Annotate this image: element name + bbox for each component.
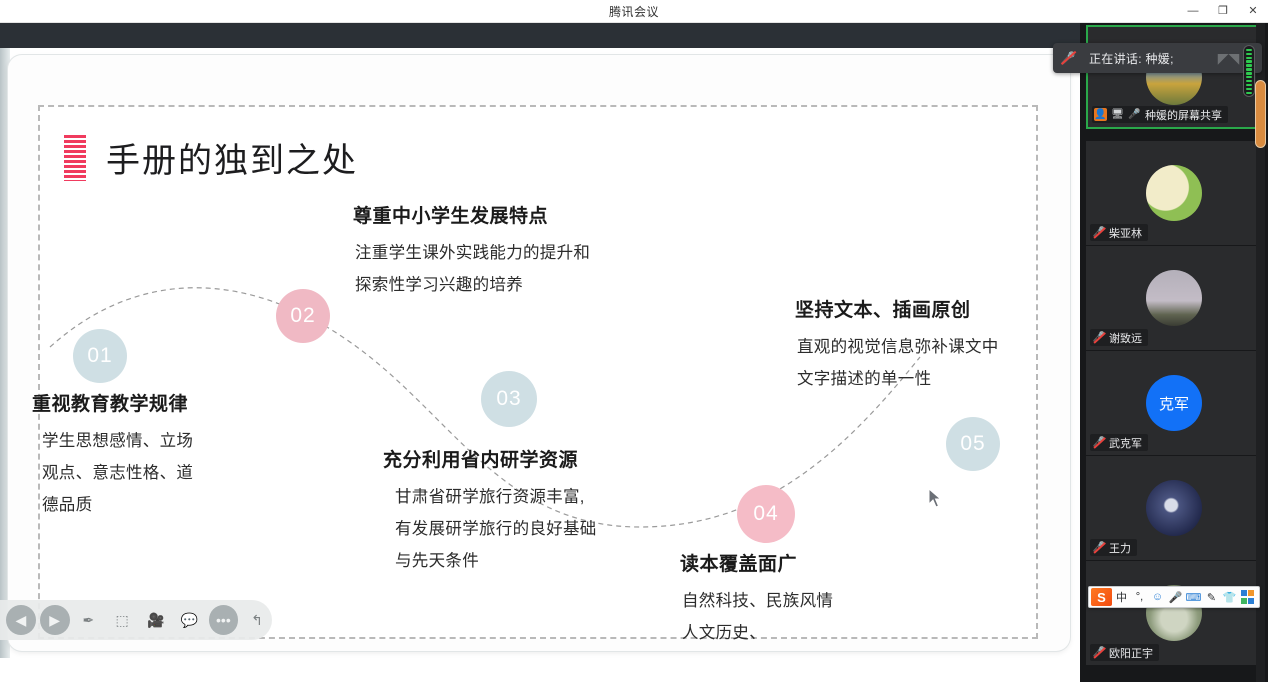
soft-keyboard-icon[interactable]: ⌨ (1185, 588, 1202, 606)
slide-item-02: 尊重中小学生发展特点 注重学生课外实践能力的提升和 探索性学习兴趣的培养 (353, 201, 590, 301)
bubble-02: 02 (276, 289, 330, 343)
avatar: 克军 (1146, 375, 1202, 431)
text-line: 注重学生课外实践能力的提升和 (355, 237, 590, 269)
close-button[interactable]: ✕ (1238, 0, 1268, 23)
presentation-toolbar[interactable]: ◀ ▶ ✒ ⬚ 🎥 💬 ••• ↰ (0, 600, 272, 640)
ime-toolbar[interactable]: S 中 °, ☺ 🎤 ⌨ ✎ 👕 (1088, 586, 1260, 608)
bubble-03: 03 (481, 371, 537, 427)
bubble-05-label: 05 (960, 432, 985, 456)
bubble-04-label: 04 (753, 502, 778, 526)
slide-item-05: 坚持文本、插画原创 直观的视觉信息弥补课文中 文字描述的单一性 (795, 295, 999, 395)
participant-name: 王力 (1109, 540, 1131, 556)
microphone-muted-icon: 🎤 (1053, 43, 1083, 73)
chinese-mode-icon[interactable]: 中 (1113, 588, 1130, 606)
text-line: 学生思想感情、立场 (42, 425, 193, 457)
avatar (1146, 165, 1202, 221)
microphone-muted-icon: 🎤 (1093, 647, 1105, 659)
text-line: 人文历史、 (682, 617, 833, 649)
text-line: 文字描述的单一性 (797, 363, 999, 395)
window-title: 腾讯会议 (609, 3, 659, 20)
participant-name: 种媛的屏幕共享 (1145, 107, 1222, 123)
participant-strip[interactable]: 👤 🖥 🎤 种媛的屏幕共享 🎤 柴亚林 🎤 谢致远 克军 🎤 武克军 (1080, 23, 1268, 682)
slide-item-02-heading: 尊重中小学生发展特点 (353, 201, 590, 228)
participant-tile-4[interactable]: 克军 🎤 武克军 (1086, 351, 1262, 455)
bubble-05: 05 (946, 417, 1000, 471)
bubble-03-label: 03 (496, 387, 521, 411)
slide-content: 手册的独到之处 01 02 03 04 05 (38, 105, 1038, 639)
slide-item-01-body: 学生思想感情、立场 观点、意志性格、道 德品质 (32, 425, 193, 522)
participant-tile-6[interactable]: 🎤 欧阳正宇 (1086, 561, 1262, 665)
participant-name-chip: 🎤 谢致远 (1090, 329, 1148, 346)
participant-name-chip: 👤 🖥 🎤 种媛的屏幕共享 (1092, 106, 1228, 123)
participant-scrollbar-thumb[interactable] (1255, 80, 1266, 148)
bubble-01-label: 01 (87, 344, 112, 368)
volume-level-meter (1243, 45, 1255, 97)
participant-name: 柴亚林 (1109, 225, 1142, 241)
avatar (1146, 270, 1202, 326)
microphone-muted-icon: 🎤 (1093, 227, 1105, 239)
pen-icon[interactable]: ✒ (74, 605, 104, 635)
participant-tile-share[interactable]: 👤 🖥 🎤 种媛的屏幕共享 (1086, 25, 1262, 129)
screen-share-icon: 🖥 (1111, 108, 1124, 121)
participant-tile-2[interactable]: 🎤 柴亚林 (1086, 141, 1262, 245)
slide-item-04: 读本覆盖面广 自然科技、民族风情 人文历史、 (680, 549, 833, 649)
microphone-muted-icon: 🎤 (1093, 542, 1105, 554)
voice-input-icon[interactable]: 🎤 (1167, 588, 1184, 606)
shared-app-top-band (0, 23, 1080, 48)
slide-item-05-heading: 坚持文本、插画原创 (795, 295, 999, 322)
next-slide-icon[interactable]: ▶ (40, 605, 70, 635)
slide-item-01-heading: 重视教育教学规律 (32, 389, 193, 416)
text-line: 直观的视觉信息弥补课文中 (797, 331, 999, 363)
zoom-target-icon[interactable]: ⬚ (107, 605, 137, 635)
slide-item-02-body: 注重学生课外实践能力的提升和 探索性学习兴趣的培养 (353, 237, 590, 301)
text-line: 与先天条件 (395, 545, 597, 577)
participant-tile-5[interactable]: 🎤 王力 (1086, 456, 1262, 560)
window-controls: — ❐ ✕ (1178, 0, 1268, 23)
text-line: 自然科技、民族风情 (682, 585, 833, 617)
speaking-tooltip: 🎤 正在讲话: 种媛; ◤◥ ↩ (1053, 43, 1262, 73)
participant-name-chip: 🎤 欧阳正宇 (1090, 644, 1159, 661)
striped-bar-icon (64, 135, 86, 181)
speaking-tooltip-icons: ◤◥ ↩ (1218, 50, 1262, 67)
shared-screen-region: 手册的独到之处 01 02 03 04 05 (0, 23, 1080, 682)
text-line: 探索性学习兴趣的培养 (355, 269, 590, 301)
volume-icon[interactable]: ◤◥ (1218, 50, 1240, 67)
more-options-icon[interactable]: ••• (209, 605, 239, 635)
slide-item-01: 重视教育教学规律 学生思想感情、立场 观点、意志性格、道 德品质 (32, 389, 193, 522)
text-line: 观点、意志性格、道 (42, 457, 193, 489)
avatar (1146, 480, 1202, 536)
text-line: 甘肃省研学旅行资源丰富, (395, 481, 597, 513)
slide-item-04-heading: 读本覆盖面广 (680, 549, 833, 576)
skin-icon[interactable]: 👕 (1221, 588, 1238, 606)
participant-tile-3[interactable]: 🎤 谢致远 (1086, 246, 1262, 350)
slide-item-05-body: 直观的视觉信息弥补课文中 文字描述的单一性 (795, 331, 999, 395)
avatar-initials: 克军 (1159, 393, 1189, 414)
app-grid-icon[interactable] (1239, 588, 1256, 606)
slide-title-row: 手册的独到之处 (64, 133, 358, 182)
slide-canvas: 手册的独到之处 01 02 03 04 05 (8, 55, 1070, 651)
participant-name: 谢致远 (1109, 330, 1142, 346)
bubble-01: 01 (73, 329, 127, 383)
app-grid-glyph (1241, 590, 1255, 604)
speaking-tooltip-text: 正在讲话: 种媛; (1083, 50, 1218, 67)
bubble-04: 04 (737, 485, 795, 543)
participant-name: 武克军 (1109, 435, 1142, 451)
sogou-logo-icon[interactable]: S (1091, 588, 1112, 606)
restore-button[interactable]: ❐ (1208, 0, 1238, 23)
bubble-02-label: 02 (290, 304, 315, 328)
participant-name-chip: 🎤 武克军 (1090, 434, 1148, 451)
microphone-icon: 🎤 (1128, 108, 1141, 121)
participant-icon: 👤 (1094, 108, 1107, 121)
punctuation-icon[interactable]: °, (1131, 588, 1148, 606)
slide-title: 手册的独到之处 (106, 133, 358, 182)
camera-icon[interactable]: 🎥 (141, 605, 171, 635)
participant-name: 欧阳正宇 (1109, 645, 1153, 661)
participant-name-chip: 🎤 王力 (1090, 539, 1137, 556)
slide-item-03-heading: 充分利用省内研学资源 (383, 445, 597, 472)
minimize-button[interactable]: — (1178, 0, 1208, 23)
mouse-cursor (928, 488, 942, 508)
emoji-icon[interactable]: ☺ (1149, 588, 1166, 606)
handwriting-icon[interactable]: ✎ (1203, 588, 1220, 606)
return-icon[interactable]: ↰ (242, 605, 272, 635)
slide-item-03: 充分利用省内研学资源 甘肃省研学旅行资源丰富, 有发展研学旅行的良好基础 与先天… (383, 445, 597, 578)
slide-item-04-body: 自然科技、民族风情 人文历史、 (680, 585, 833, 649)
slide-item-03-body: 甘肃省研学旅行资源丰富, 有发展研学旅行的良好基础 与先天条件 (383, 481, 597, 578)
subtitle-icon[interactable]: 💬 (175, 605, 205, 635)
previous-slide-icon[interactable]: ◀ (6, 605, 36, 635)
microphone-muted-icon: 🎤 (1093, 332, 1105, 344)
text-line: 有发展研学旅行的良好基础 (395, 513, 597, 545)
microphone-muted-icon: 🎤 (1093, 437, 1105, 449)
text-line: 德品质 (42, 489, 193, 521)
participant-name-chip: 🎤 柴亚林 (1090, 224, 1148, 241)
window-titlebar: 腾讯会议 — ❐ ✕ (0, 0, 1268, 23)
